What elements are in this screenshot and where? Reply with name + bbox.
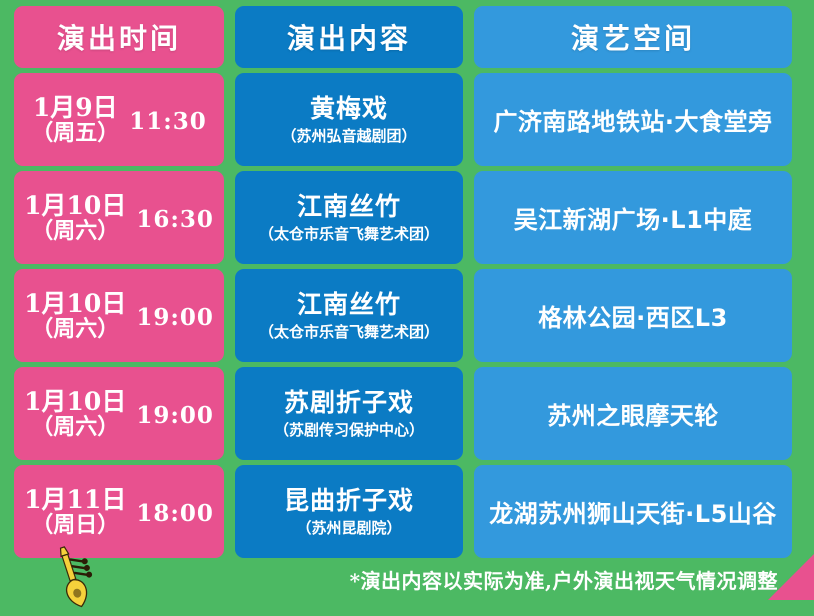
date-block: 1月11日 （周日） <box>24 487 126 536</box>
weekday-text: （周日） <box>31 514 119 536</box>
date-block: 1月10日 （周六） <box>24 389 126 438</box>
table-row: 1月9日 （周五） 11:30 黄梅戏 （苏州弘音越剧团） 广济南路地铁站·大食… <box>14 73 800 166</box>
venue-text: 格林公园·西区L3 <box>474 298 792 333</box>
schedule-venue-cell: 格林公园·西区L3 <box>474 269 792 362</box>
schedule-content-cell: 苏剧折子戏 （苏剧传习保护中心） <box>235 367 463 460</box>
content-cell-inner: 苏剧折子戏 （苏剧传习保护中心） <box>235 389 463 439</box>
content-cell-inner: 黄梅戏 （苏州弘音越剧团） <box>235 95 463 145</box>
troupe-name-text: （太仓市乐音飞舞艺术团） <box>259 324 439 341</box>
start-time-text: 19:00 <box>136 398 214 429</box>
date-block: 1月10日 （周六） <box>24 291 126 340</box>
schedule-content-cell: 昆曲折子戏 （苏州昆剧院） <box>235 465 463 558</box>
pipa-instrument-icon <box>40 542 104 612</box>
date-block: 1月10日 （周六） <box>24 193 126 242</box>
troupe-name-text: （苏剧传习保护中心） <box>274 422 424 439</box>
venue-text: 苏州之眼摩天轮 <box>474 396 792 431</box>
time-cell-inner: 1月9日 （周五） 11:30 <box>14 95 224 144</box>
content-cell-inner: 江南丝竹 （太仓市乐音飞舞艺术团） <box>235 193 463 243</box>
date-text: 1月11日 <box>24 487 126 512</box>
time-cell-inner: 1月10日 （周六） 19:00 <box>14 389 224 438</box>
troupe-name-text: （苏州昆剧院） <box>296 520 401 537</box>
date-text: 1月10日 <box>24 193 126 218</box>
schedule-time-cell: 1月10日 （周六） 16:30 <box>14 171 224 264</box>
start-time-text: 18:00 <box>136 496 214 527</box>
date-text: 1月10日 <box>24 389 126 414</box>
schedule-content-cell: 江南丝竹 （太仓市乐音飞舞艺术团） <box>235 171 463 264</box>
poster-footer: *演出内容以实际为准,户外演出视天气情况调整 <box>14 558 800 600</box>
schedule-table: 演出时间 演出内容 演艺空间 1月9日 （周五） 11:30 黄梅戏 （苏州弘音… <box>14 6 800 558</box>
date-text: 1月9日 <box>33 95 118 120</box>
schedule-content-cell: 黄梅戏 （苏州弘音越剧团） <box>235 73 463 166</box>
table-row: 1月11日 （周日） 18:00 昆曲折子戏 （苏州昆剧院） 龙湖苏州狮山天街·… <box>14 465 800 558</box>
start-time-text: 16:30 <box>136 202 214 233</box>
weekday-text: （周六） <box>31 318 119 340</box>
schedule-time-cell: 1月10日 （周六） 19:00 <box>14 269 224 362</box>
show-title-text: 黄梅戏 <box>310 95 388 123</box>
show-title-text: 江南丝竹 <box>297 291 401 319</box>
content-cell-inner: 昆曲折子戏 （苏州昆剧院） <box>235 487 463 537</box>
performance-schedule-poster: 演出时间 演出内容 演艺空间 1月9日 （周五） 11:30 黄梅戏 （苏州弘音… <box>0 0 814 600</box>
time-cell-inner: 1月11日 （周日） 18:00 <box>14 487 224 536</box>
date-text: 1月10日 <box>24 291 126 316</box>
column-header-content: 演出内容 <box>235 6 463 68</box>
schedule-time-cell: 1月10日 （周六） 19:00 <box>14 367 224 460</box>
time-cell-inner: 1月10日 （周六） 19:00 <box>14 291 224 340</box>
show-title-text: 江南丝竹 <box>297 193 401 221</box>
show-title-text: 苏剧折子戏 <box>284 389 414 417</box>
footer-note-text: *演出内容以实际为准,户外演出视天气情况调整 <box>350 565 778 594</box>
troupe-name-text: （苏州弘音越剧团） <box>281 128 416 145</box>
show-title-text: 昆曲折子戏 <box>284 487 414 515</box>
start-time-text: 11:30 <box>129 104 207 135</box>
venue-text: 广济南路地铁站·大食堂旁 <box>474 102 792 137</box>
weekday-text: （周六） <box>31 416 119 438</box>
weekday-text: （周五） <box>31 122 119 144</box>
venue-text: 龙湖苏州狮山天街·L5山谷 <box>474 494 792 529</box>
content-cell-inner: 江南丝竹 （太仓市乐音飞舞艺术团） <box>235 291 463 341</box>
schedule-content-cell: 江南丝竹 （太仓市乐音飞舞艺术团） <box>235 269 463 362</box>
schedule-venue-cell: 苏州之眼摩天轮 <box>474 367 792 460</box>
date-block: 1月9日 （周五） <box>31 95 119 144</box>
weekday-text: （周六） <box>31 220 119 242</box>
schedule-venue-cell: 广济南路地铁站·大食堂旁 <box>474 73 792 166</box>
table-row: 1月10日 （周六） 19:00 苏剧折子戏 （苏剧传习保护中心） 苏州之眼摩天… <box>14 367 800 460</box>
start-time-text: 19:00 <box>136 300 214 331</box>
time-cell-inner: 1月10日 （周六） 16:30 <box>14 193 224 242</box>
table-row: 1月10日 （周六） 16:30 江南丝竹 （太仓市乐音飞舞艺术团） 吴江新湖广… <box>14 171 800 264</box>
table-row: 1月10日 （周六） 19:00 江南丝竹 （太仓市乐音飞舞艺术团） 格林公园·… <box>14 269 800 362</box>
schedule-time-cell: 1月9日 （周五） 11:30 <box>14 73 224 166</box>
table-header-row: 演出时间 演出内容 演艺空间 <box>14 6 800 68</box>
column-header-venue: 演艺空间 <box>474 6 792 68</box>
schedule-venue-cell: 龙湖苏州狮山天街·L5山谷 <box>474 465 792 558</box>
troupe-name-text: （太仓市乐音飞舞艺术团） <box>259 226 439 243</box>
schedule-venue-cell: 吴江新湖广场·L1中庭 <box>474 171 792 264</box>
column-header-time: 演出时间 <box>14 6 224 68</box>
venue-text: 吴江新湖广场·L1中庭 <box>474 200 792 235</box>
